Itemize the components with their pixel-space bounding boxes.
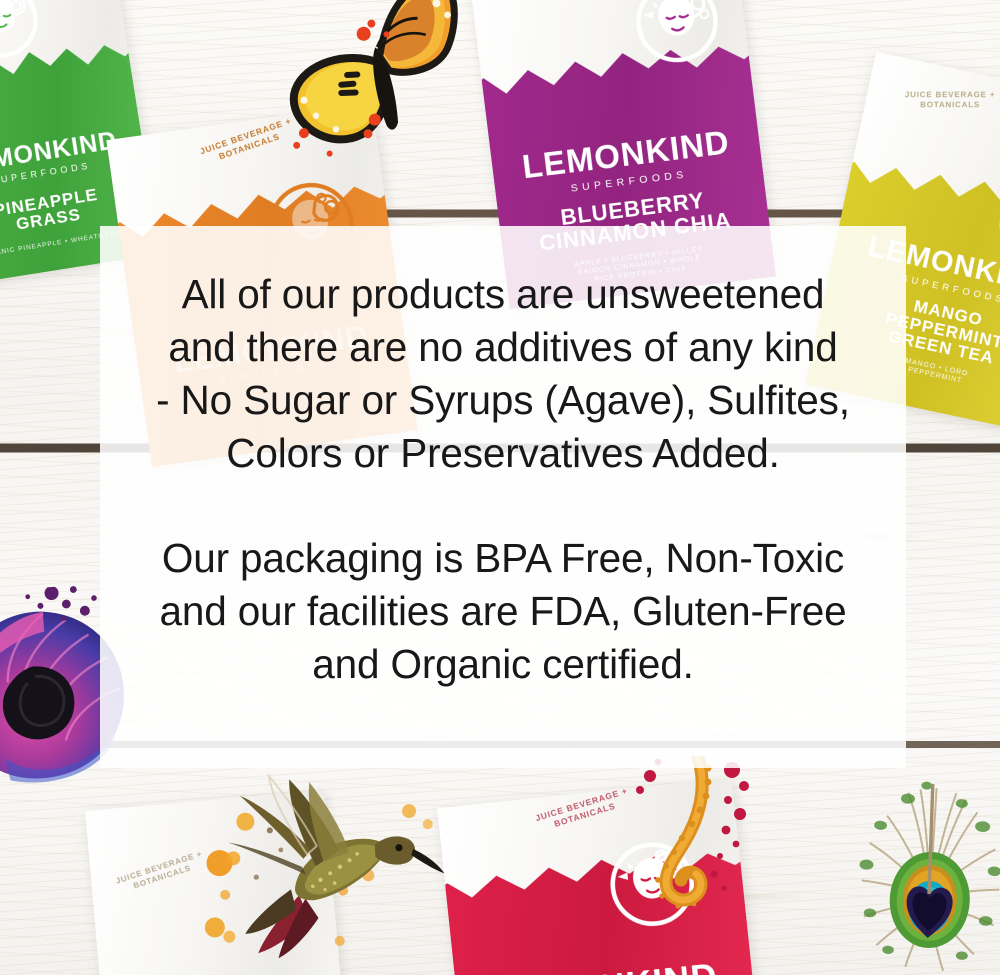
claim-2-line-3: and Organic certified. (134, 638, 872, 691)
claim-2-line-1: Our packaging is BPA Free, Non-Toxic (134, 532, 872, 585)
pouch-brand: LEMONKIND (520, 125, 731, 183)
claim-1-line-4: Colors or Preservatives Added. (134, 427, 872, 480)
claim-packaging: Our packaging is BPA Free, Non-Toxic and… (134, 532, 872, 691)
lemonkind-lady-logo-icon (0, 0, 43, 63)
peacock-feather-artwork (851, 772, 1000, 975)
claim-1-line-1: All of our products are unsweetened (134, 268, 872, 321)
claim-unsweetened: All of our products are unsweetened and … (134, 268, 872, 480)
promo-banner: LEMONKIND SUPERFOODS PINEAPPLE GRASS ORG… (0, 0, 1000, 975)
hummingbird-artwork (181, 755, 454, 975)
claim-1-line-2: and there are no additives of any kind (134, 321, 872, 374)
claims-overlay-panel: All of our products are unsweetened and … (100, 226, 906, 768)
seahorse-artwork (636, 756, 756, 926)
butterfly-artwork (248, 0, 489, 173)
claim-2-line-2: and our facilities are FDA, Gluten-Free (134, 585, 872, 638)
pouch-brand: LEMONKIND (490, 958, 719, 975)
lemonkind-lady-logo-icon (631, 0, 722, 67)
claim-1-line-3: - No Sugar or Syrups (Agave), Sulfites, (134, 374, 872, 427)
